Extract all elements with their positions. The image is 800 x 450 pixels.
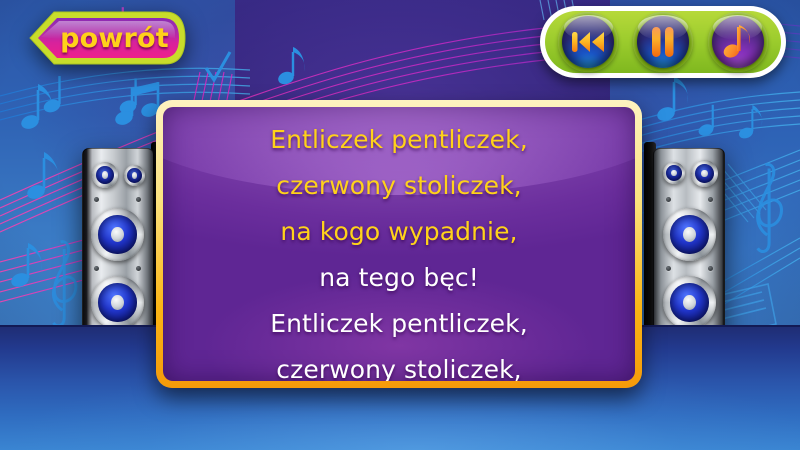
lyrics-line: na kogo wypadnie,: [177, 209, 621, 255]
lyrics-line: Entliczek pentliczek,: [177, 117, 621, 163]
music-note-button[interactable]: [708, 12, 768, 72]
lyrics-panel: Entliczek pentliczek, czerwony stoliczek…: [156, 100, 642, 388]
pause-button[interactable]: [633, 12, 693, 72]
lyrics-line: Entliczek pentliczek,: [177, 301, 621, 347]
pause-icon: [650, 27, 676, 57]
rewind-icon: [571, 29, 605, 55]
music-note-icon: [723, 25, 753, 59]
back-button-label: powrót: [24, 8, 189, 68]
lyrics-list: Entliczek pentliczek, czerwony stoliczek…: [163, 107, 635, 381]
karaoke-screen: powrót: [0, 0, 800, 450]
lyrics-line: czerwony stoliczek,: [177, 347, 621, 381]
back-button[interactable]: powrót: [24, 8, 189, 68]
lyrics-line: czerwony stoliczek,: [177, 163, 621, 209]
previous-track-button[interactable]: [558, 12, 618, 72]
transport-controls: [540, 6, 786, 78]
lyrics-line: na tego bęc!: [177, 255, 621, 301]
